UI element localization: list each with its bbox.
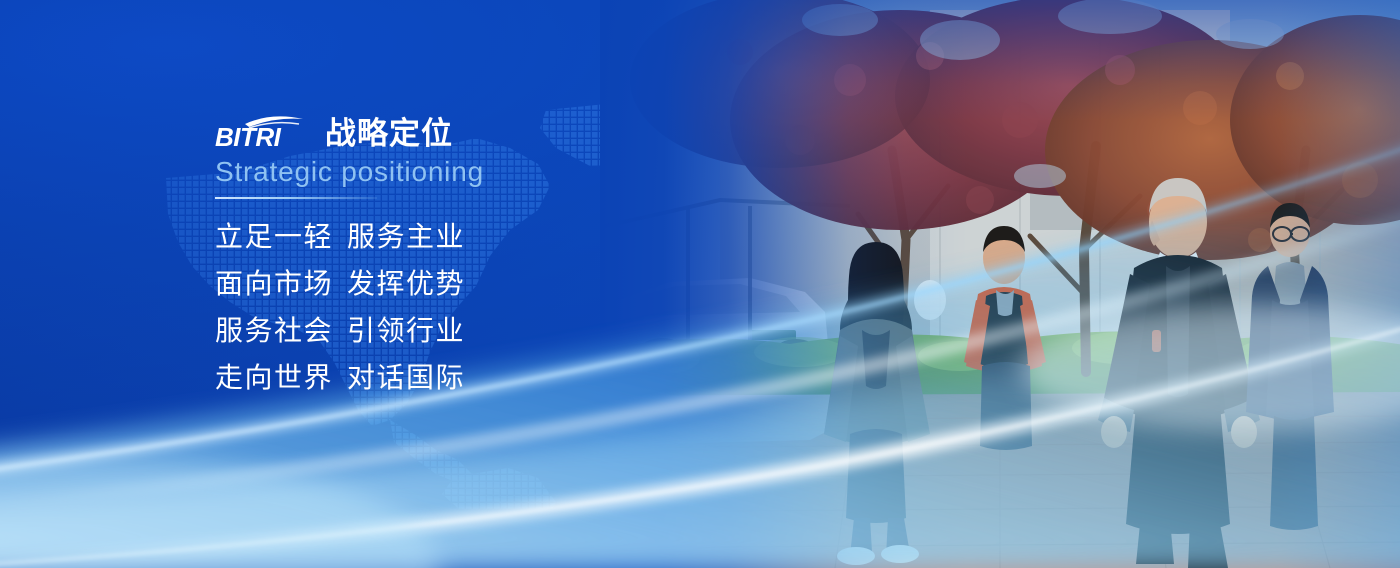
slogan-right: 服务主业	[347, 221, 465, 253]
slogan-left: 面向市场	[215, 268, 347, 300]
banner-title-cn: 战略定位	[325, 117, 453, 152]
slogan-row: 走向世界 对话国际	[215, 362, 775, 394]
slogan-left: 走向世界	[215, 362, 347, 394]
slogan-right: 对话国际	[347, 362, 465, 394]
strategic-positioning-banner: BITRI 战略定位 Strategic positioning 立足一轻 服务…	[0, 0, 1400, 568]
slogan-list: 立足一轻 服务主业 面向市场 发挥优势 服务社会 引领行业 走向世界 对话国际	[215, 221, 775, 394]
slogan-right: 发挥优势	[347, 268, 465, 300]
title-row: BITRI 战略定位	[215, 108, 775, 152]
slogan-left: 服务社会	[215, 315, 347, 347]
slogan-row: 服务社会 引领行业	[215, 315, 775, 347]
bitri-logo[interactable]: BITRI	[215, 112, 311, 152]
slogan-row: 立足一轻 服务主业	[215, 221, 775, 253]
slogan-right: 引领行业	[347, 315, 465, 347]
slogan-left: 立足一轻	[215, 221, 347, 253]
slogan-row: 面向市场 发挥优势	[215, 268, 775, 300]
banner-subtitle-en: Strategic positioning	[215, 156, 775, 188]
bitri-wordmark-text: BITRI	[215, 122, 282, 152]
title-divider	[215, 197, 377, 199]
banner-content: BITRI 战略定位 Strategic positioning 立足一轻 服务…	[215, 108, 775, 394]
